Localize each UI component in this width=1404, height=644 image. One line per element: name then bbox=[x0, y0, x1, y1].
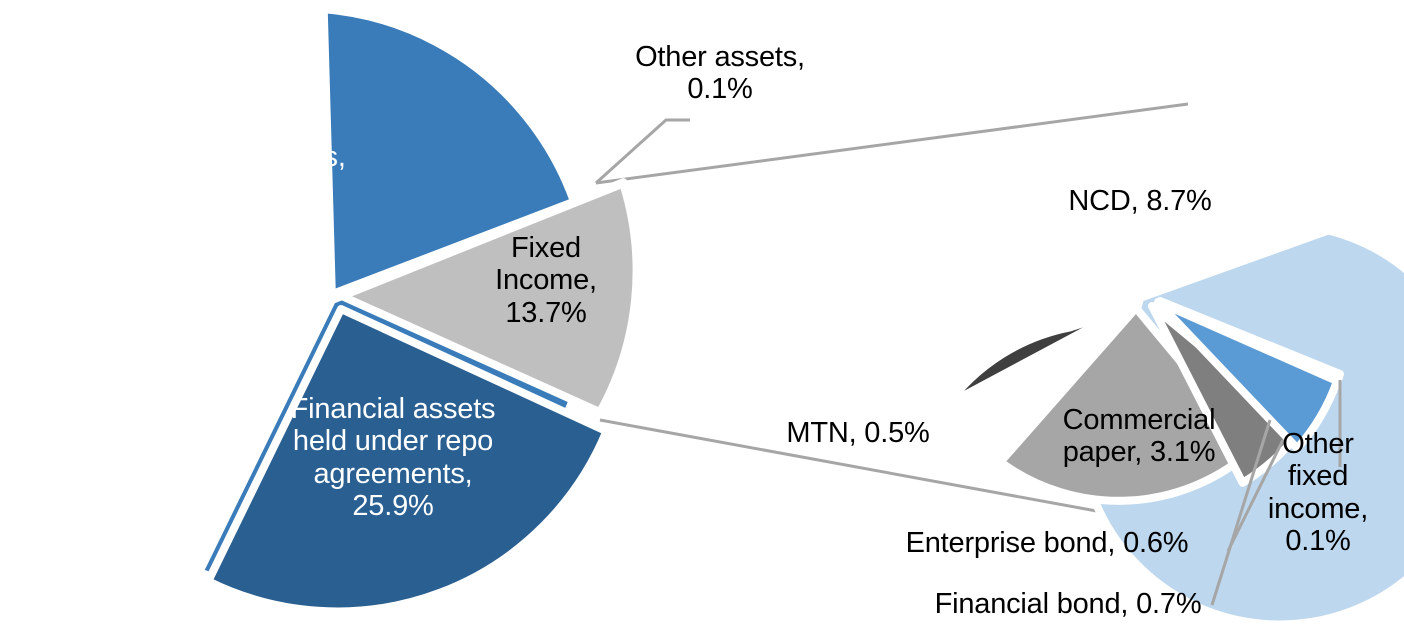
label-financial-bond: Financial bond, 0.7% bbox=[903, 588, 1233, 620]
label-ncd: NCD, 8.7% bbox=[1045, 185, 1235, 217]
label-enterprise-bond: Enterprise bond, 0.6% bbox=[873, 527, 1221, 559]
label-fixed-income: Fixed Income, 13.7% bbox=[466, 232, 626, 329]
label-mtn: MTN, 0.5% bbox=[768, 417, 948, 449]
label-commercial-paper: Commercial paper, 3.1% bbox=[1029, 404, 1249, 469]
label-other-fixed-income: Other fixed income, 0.1% bbox=[1258, 428, 1378, 558]
label-repo-agreements: Financial assets held under repo agreeme… bbox=[258, 393, 528, 523]
label-other-assets: Other assets, 0.1% bbox=[600, 41, 840, 106]
connector-upper bbox=[596, 104, 1188, 183]
pie-of-pie-chart: Bank deposits, 60.3% Financial assets he… bbox=[0, 0, 1404, 644]
label-bank-deposits: Bank deposits, 60.3% bbox=[122, 141, 382, 206]
